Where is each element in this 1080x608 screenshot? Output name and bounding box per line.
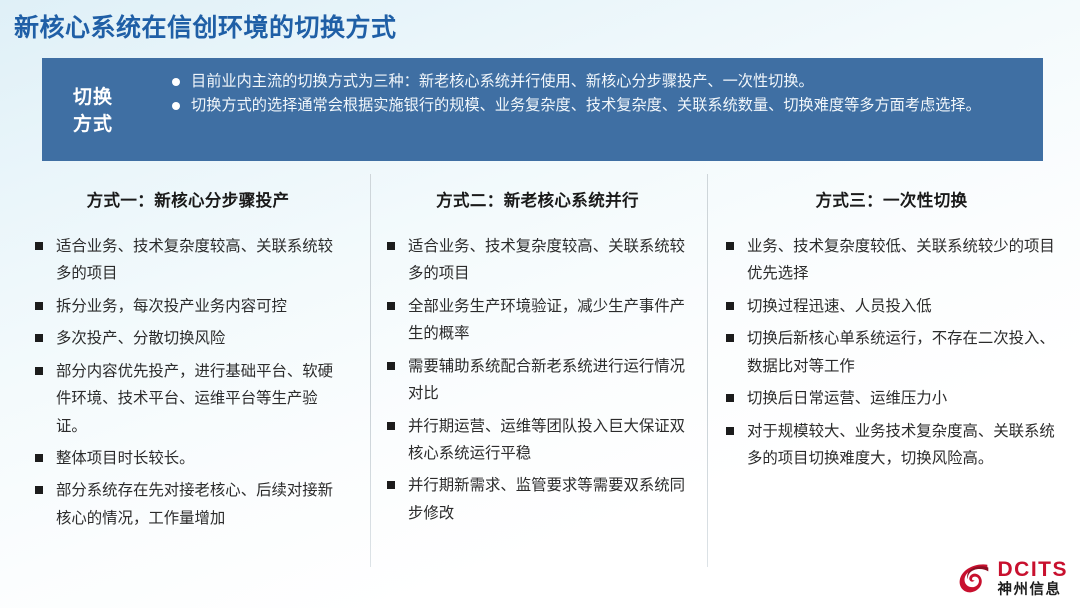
logo-name-cn: 神州信息 bbox=[998, 583, 1069, 598]
list-item-text: 并行期新需求、监管要求等需要双系统同步修改 bbox=[408, 477, 685, 521]
list-item: 部分系统存在先对接老核心、后续对接新核心的情况，工作量增加 bbox=[34, 477, 346, 532]
summary-bullet-text: 切换方式的选择通常会根据实施银行的规模、业务复杂度、技术复杂度、关联系统数量、切… bbox=[191, 97, 981, 114]
list-item-text: 切换过程迅速、人员投入低 bbox=[747, 298, 932, 315]
page-title: 新核心系统在信创环境的切换方式 bbox=[14, 8, 397, 44]
bullet-square-icon bbox=[35, 367, 43, 375]
list-item-text: 业务、技术复杂度较低、关联系统较少的项目优先选择 bbox=[747, 238, 1055, 282]
list-item: 切换过程迅速、人员投入低 bbox=[725, 293, 1058, 320]
column-heading: 方式三：一次性切换 bbox=[725, 187, 1058, 211]
column-heading: 方式一：新核心分步骤投产 bbox=[34, 187, 346, 211]
summary-bullet-list: 目前业内主流的切换方式为三种：新老核心系统并行使用、新核心分步骤投产、一次性切换… bbox=[144, 58, 1043, 161]
list-item-text: 需要辅助系统配合新老系统进行运行情况对比 bbox=[408, 358, 685, 402]
list-item-text: 对于规模较大、业务技术复杂度高、关联系统多的项目切换难度大，切换风险高。 bbox=[747, 423, 1055, 467]
bullet-dot-icon bbox=[172, 102, 180, 110]
company-logo: DCITS 神州信息 bbox=[956, 556, 1069, 600]
column-bullet-list: 适合业务、技术复杂度较高、关联系统较多的项目 全部业务生产环境验证，减少生产事件… bbox=[386, 233, 689, 527]
list-item: 全部业务生产环境验证，减少生产事件产生的概率 bbox=[386, 293, 689, 348]
bullet-dot-icon bbox=[172, 78, 180, 86]
bullet-square-icon bbox=[387, 242, 395, 250]
bullet-square-icon bbox=[387, 362, 395, 370]
column-method-two: 方式二：新老核心系统并行 适合业务、技术复杂度较高、关联系统较多的项目 全部业务… bbox=[370, 172, 707, 567]
list-item: 拆分业务，每次投产业务内容可控 bbox=[34, 293, 346, 320]
logo-name-en: DCITS bbox=[998, 559, 1069, 580]
list-item: 切换后新核心单系统运行，不存在二次投入、数据比对等工作 bbox=[725, 325, 1058, 380]
list-item: 适合业务、技术复杂度较高、关联系统较多的项目 bbox=[386, 233, 689, 288]
bullet-square-icon bbox=[35, 486, 43, 494]
list-item-text: 拆分业务，每次投产业务内容可控 bbox=[56, 298, 287, 315]
summary-tag-line2: 方式 bbox=[73, 112, 113, 138]
list-item-text: 部分内容优先投产，进行基础平台、软硬件环境、技术平台、运维平台等生产验证。 bbox=[56, 363, 333, 435]
slide-root: 新核心系统在信创环境的切换方式 切换 方式 目前业内主流的切换方式为三种：新老核… bbox=[0, 0, 1080, 608]
bullet-square-icon bbox=[726, 394, 734, 402]
summary-bullet-item: 目前业内主流的切换方式为三种：新老核心系统并行使用、新核心分步骤投产、一次性切换… bbox=[172, 70, 1027, 93]
summary-tag: 切换 方式 bbox=[42, 58, 144, 161]
column-bullet-list: 业务、技术复杂度较低、关联系统较少的项目优先选择 切换过程迅速、人员投入低 切换… bbox=[725, 233, 1058, 472]
list-item: 并行期新需求、监管要求等需要双系统同步修改 bbox=[386, 472, 689, 527]
list-item-text: 切换后日常运营、运维压力小 bbox=[747, 390, 947, 407]
list-item: 切换后日常运营、运维压力小 bbox=[725, 385, 1058, 412]
list-item-text: 切换后新核心单系统运行，不存在二次投入、数据比对等工作 bbox=[747, 330, 1055, 374]
column-method-three: 方式三：一次性切换 业务、技术复杂度较低、关联系统较少的项目优先选择 切换过程迅… bbox=[707, 172, 1080, 567]
column-heading: 方式二：新老核心系统并行 bbox=[386, 187, 689, 211]
list-item-text: 适合业务、技术复杂度较高、关联系统较多的项目 bbox=[408, 238, 685, 282]
dcits-swirl-icon bbox=[956, 559, 994, 597]
summary-tag-line1: 切换 bbox=[73, 85, 113, 111]
bullet-square-icon bbox=[35, 334, 43, 342]
list-item-text: 整体项目时长较长。 bbox=[56, 450, 195, 467]
bullet-square-icon bbox=[387, 302, 395, 310]
bullet-square-icon bbox=[387, 422, 395, 430]
bullet-square-icon bbox=[35, 242, 43, 250]
columns-container: 方式一：新核心分步骤投产 适合业务、技术复杂度较高、关联系统较多的项目 拆分业务… bbox=[0, 172, 1080, 567]
list-item: 整体项目时长较长。 bbox=[34, 445, 346, 472]
list-item: 业务、技术复杂度较低、关联系统较少的项目优先选择 bbox=[725, 233, 1058, 288]
bullet-square-icon bbox=[35, 302, 43, 310]
bullet-square-icon bbox=[726, 427, 734, 435]
list-item-text: 并行期运营、运维等团队投入巨大保证双核心系统运行平稳 bbox=[408, 418, 685, 462]
list-item-text: 部分系统存在先对接老核心、后续对接新核心的情况，工作量增加 bbox=[56, 482, 333, 526]
list-item-text: 适合业务、技术复杂度较高、关联系统较多的项目 bbox=[56, 238, 333, 282]
list-item: 对于规模较大、业务技术复杂度高、关联系统多的项目切换难度大，切换风险高。 bbox=[725, 418, 1058, 473]
list-item: 并行期运营、运维等团队投入巨大保证双核心系统运行平稳 bbox=[386, 413, 689, 468]
column-method-one: 方式一：新核心分步骤投产 适合业务、技术复杂度较高、关联系统较多的项目 拆分业务… bbox=[0, 172, 370, 567]
list-item: 适合业务、技术复杂度较高、关联系统较多的项目 bbox=[34, 233, 346, 288]
bullet-square-icon bbox=[726, 242, 734, 250]
column-bullet-list: 适合业务、技术复杂度较高、关联系统较多的项目 拆分业务，每次投产业务内容可控 多… bbox=[34, 233, 346, 532]
list-item-text: 多次投产、分散切换风险 bbox=[56, 330, 225, 347]
list-item: 需要辅助系统配合新老系统进行运行情况对比 bbox=[386, 353, 689, 408]
bullet-square-icon bbox=[35, 454, 43, 462]
bullet-square-icon bbox=[387, 481, 395, 489]
summary-bullet-item: 切换方式的选择通常会根据实施银行的规模、业务复杂度、技术复杂度、关联系统数量、切… bbox=[172, 94, 1027, 117]
list-item: 部分内容优先投产，进行基础平台、软硬件环境、技术平台、运维平台等生产验证。 bbox=[34, 358, 346, 440]
list-item-text: 全部业务生产环境验证，减少生产事件产生的概率 bbox=[408, 298, 685, 342]
logo-text: DCITS 神州信息 bbox=[998, 559, 1069, 598]
bullet-square-icon bbox=[726, 302, 734, 310]
summary-panel: 切换 方式 目前业内主流的切换方式为三种：新老核心系统并行使用、新核心分步骤投产… bbox=[42, 58, 1043, 161]
list-item: 多次投产、分散切换风险 bbox=[34, 325, 346, 352]
bullet-square-icon bbox=[726, 334, 734, 342]
summary-bullet-text: 目前业内主流的切换方式为三种：新老核心系统并行使用、新核心分步骤投产、一次性切换… bbox=[191, 73, 814, 90]
